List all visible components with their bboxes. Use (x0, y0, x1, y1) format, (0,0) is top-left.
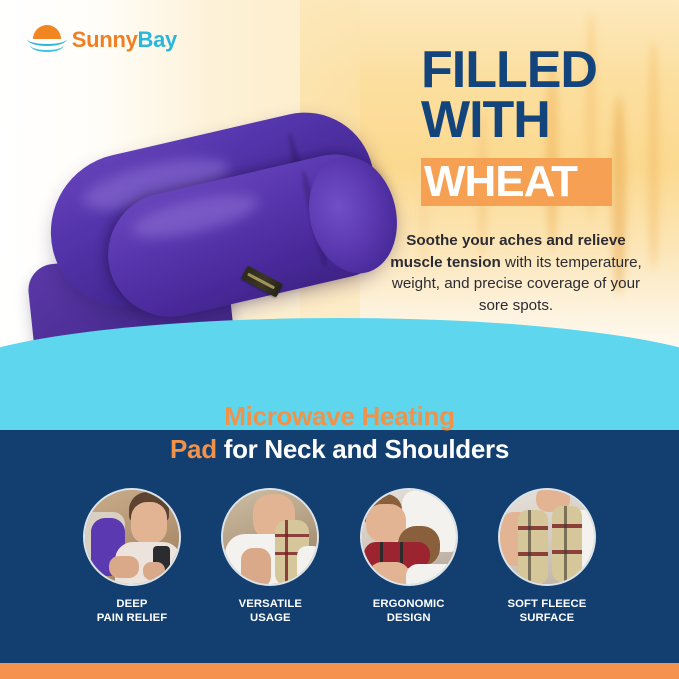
feature-item-ergonomic-design[interactable]: ERGONOMIC DESIGN (357, 488, 461, 638)
feature-item-soft-fleece-surface[interactable]: SOFT FLEECE SURFACE (495, 488, 599, 638)
feature-label-soft-fleece-surface: SOFT FLEECE SURFACE (508, 597, 587, 625)
feature-thumbnail-deep-pain-relief (83, 488, 181, 586)
product-infographic: SunnyBay FILLED WITH WHEAT (0, 0, 679, 679)
feature-label-ergonomic-design: ERGONOMIC DESIGN (373, 597, 445, 625)
hero-headline: FILLED WITH (421, 46, 671, 146)
feature-thumbnail-soft-fleece-surface (498, 488, 596, 586)
sun-wave-icon (27, 23, 66, 57)
brand-name-part1: Sunny (72, 27, 138, 52)
brand-name-part2: Bay (138, 27, 177, 52)
banner-title-orange-2: Pad (170, 434, 217, 464)
headline-line-2: WITH (421, 96, 671, 146)
headline-line-1: FILLED (421, 46, 671, 96)
banner-title-white: for Neck and Shoulders (217, 434, 509, 464)
hero-description: Soothe your aches and relieve muscle ten… (386, 230, 646, 316)
bottom-accent-bar (0, 663, 679, 679)
banner-title-orange-1: Microwave Heating (224, 401, 454, 431)
brand-logo[interactable]: SunnyBay (27, 18, 177, 62)
feature-thumbnail-ergonomic-design (360, 488, 458, 586)
feature-label-deep-pain-relief: DEEP PAIN RELIEF (97, 597, 168, 625)
headline-highlight-text: WHEAT (424, 160, 577, 204)
brand-name: SunnyBay (72, 27, 177, 53)
feature-list: DEEP PAIN RELIEF VERSATILE USAGE (80, 488, 599, 638)
feature-label-versatile-usage: VERSATILE USAGE (239, 597, 302, 625)
feature-item-deep-pain-relief[interactable]: DEEP PAIN RELIEF (80, 488, 184, 638)
feature-item-versatile-usage[interactable]: VERSATILE USAGE (218, 488, 322, 638)
headline-highlight-band: WHEAT (421, 158, 612, 206)
feature-thumbnail-versatile-usage (221, 488, 319, 586)
banner-title: Microwave Heating Pad for Neck and Shoul… (40, 400, 639, 466)
